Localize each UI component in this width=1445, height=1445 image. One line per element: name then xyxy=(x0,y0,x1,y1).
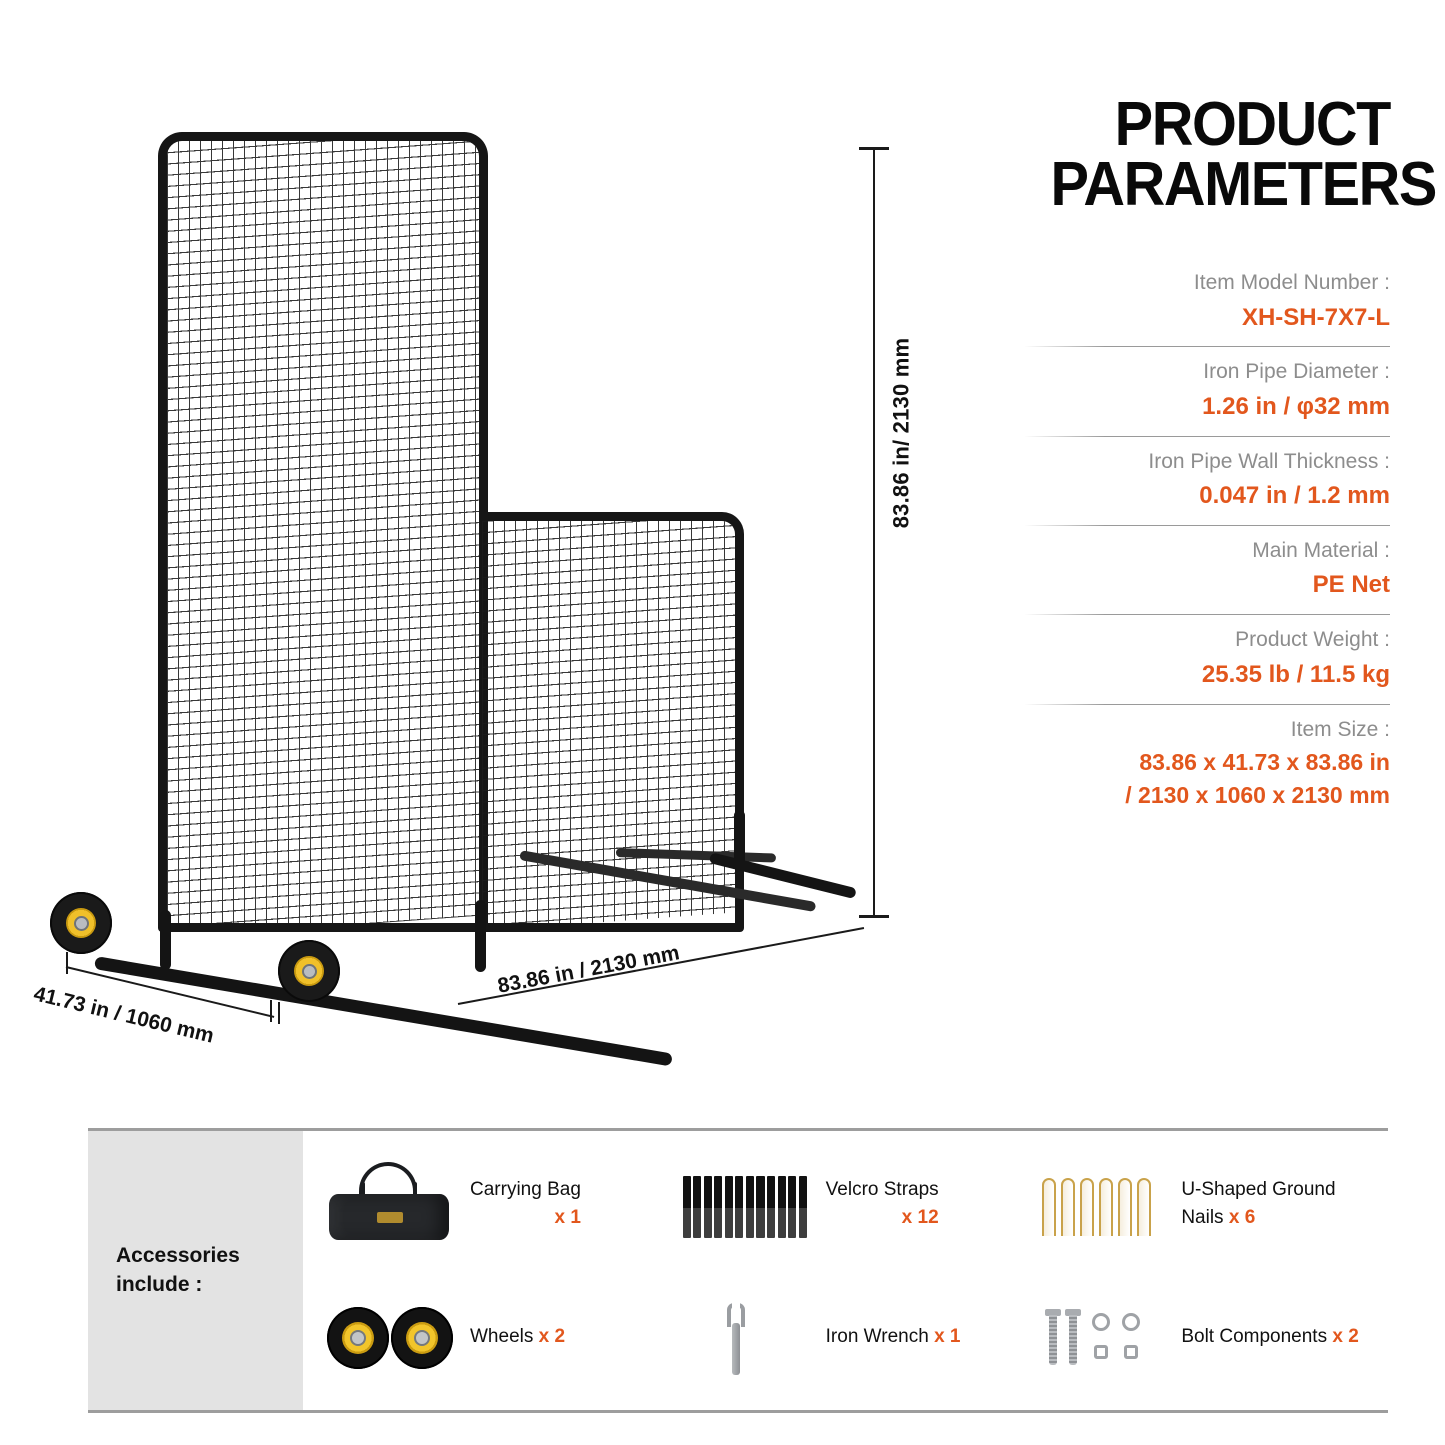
strap xyxy=(704,1176,712,1238)
accessory-wheels: Wheels x 2 xyxy=(321,1289,677,1385)
accessory-qty: x 1 xyxy=(934,1326,960,1347)
spec-key: Iron Pipe Wall Thickness : xyxy=(1025,446,1390,478)
bag-handle-icon xyxy=(359,1162,417,1198)
product-wheel-right xyxy=(278,940,340,1002)
iron-wrench-icon xyxy=(677,1289,812,1385)
bolt-icon-2 xyxy=(1068,1309,1078,1365)
bolt-icon-1 xyxy=(1048,1309,1058,1365)
nail-group xyxy=(1042,1178,1160,1238)
accessories-label-line-2: include : xyxy=(116,1271,240,1299)
accessory-label: Iron Wrench x 1 xyxy=(826,1323,961,1351)
page-title-line-1: PRODUCT xyxy=(1051,95,1390,155)
strap xyxy=(725,1176,733,1238)
accessory-qty: x 12 xyxy=(826,1204,939,1232)
strap xyxy=(735,1176,743,1238)
accessory-qty: x 1 xyxy=(470,1204,581,1232)
strap xyxy=(714,1176,722,1238)
strap xyxy=(746,1176,754,1238)
wheel-icon-right xyxy=(391,1307,453,1369)
spec-value-line-1: 83.86 x 41.73 x 83.86 in xyxy=(1025,747,1390,778)
bolt-group xyxy=(1046,1307,1156,1369)
spec-value: 1.26 in / φ32 mm xyxy=(1025,390,1390,425)
strap-bundle xyxy=(683,1176,807,1238)
spec-value: 25.35 lb / 11.5 kg xyxy=(1025,658,1390,693)
u-nail xyxy=(1042,1178,1056,1236)
height-dimension-line xyxy=(873,148,875,918)
accessory-name: Iron Wrench xyxy=(826,1326,929,1347)
wheels-icon xyxy=(321,1289,456,1385)
height-dimension-label: 83.86 in/ 2130 mm xyxy=(888,338,914,529)
spec-row-pipe-wall-thickness: Iron Pipe Wall Thickness : 0.047 in / 1.… xyxy=(1025,436,1390,525)
accessories-panel: Accessories include : Carrying Bag x 1 xyxy=(88,1128,1388,1413)
strap xyxy=(778,1176,786,1238)
nut-icon-2 xyxy=(1124,1345,1138,1359)
u-nail xyxy=(1080,1178,1094,1236)
net-mesh xyxy=(167,132,479,932)
strap xyxy=(683,1176,691,1238)
frame-post-right xyxy=(734,810,745,866)
spec-key: Iron Pipe Diameter : xyxy=(1025,356,1390,388)
depth-tick-right xyxy=(270,1000,272,1022)
specifications-list: Item Model Number : XH-SH-7X7-L Iron Pip… xyxy=(1025,258,1390,822)
spec-key: Main Material : xyxy=(1025,535,1390,567)
spec-value: 0.047 in / 1.2 mm xyxy=(1025,479,1390,514)
spec-key: Product Weight : xyxy=(1025,624,1390,656)
specifications-panel: PRODUCT PARAMETERS Item Model Number : X… xyxy=(1025,95,1390,822)
accessories-grid: Carrying Bag x 1 Velcr xyxy=(303,1131,1388,1410)
accessory-qty: x 2 xyxy=(1332,1326,1358,1347)
frame-post-left xyxy=(160,910,171,970)
spec-row-product-weight: Product Weight : 25.35 lb / 11.5 kg xyxy=(1025,614,1390,703)
wrench-shape xyxy=(727,1303,745,1373)
bolt-shaft xyxy=(1049,1315,1057,1365)
strap xyxy=(788,1176,796,1238)
accessory-name: Wheels xyxy=(470,1326,533,1347)
bolt-components-icon xyxy=(1032,1289,1167,1385)
u-nail xyxy=(1099,1178,1113,1236)
product-wheel-left xyxy=(50,892,112,954)
spec-value: PE Net xyxy=(1025,568,1390,603)
strap xyxy=(756,1176,764,1238)
wrench-notch xyxy=(732,1301,740,1313)
strap xyxy=(693,1176,701,1238)
accessory-name: Velcro Straps xyxy=(826,1176,939,1204)
accessory-label: Bolt Components x 2 xyxy=(1181,1323,1358,1351)
accessory-qty: x 2 xyxy=(539,1326,565,1347)
accessory-velcro-straps: Velcro Straps x 12 xyxy=(677,1156,1033,1252)
page-title-line-2: PARAMETERS xyxy=(1051,155,1390,215)
depth-tick-right-2 xyxy=(278,1002,280,1024)
accessory-carrying-bag: Carrying Bag x 1 xyxy=(321,1156,677,1252)
accessory-label: Velcro Straps x 12 xyxy=(826,1176,939,1231)
accessories-label-block: Accessories include : xyxy=(88,1131,303,1410)
spec-row-model-number: Item Model Number : XH-SH-7X7-L xyxy=(1025,258,1390,346)
frame-post-middle xyxy=(475,900,486,972)
height-cap-top xyxy=(859,147,889,150)
washer-icon-2 xyxy=(1122,1313,1140,1331)
velcro-straps-icon xyxy=(677,1156,812,1252)
accessory-bolt-components: Bolt Components x 2 xyxy=(1032,1289,1388,1385)
product-illustration xyxy=(20,110,920,1050)
u-shaped-ground-nails-icon xyxy=(1032,1156,1167,1252)
spec-row-item-size: Item Size : 83.86 x 41.73 x 83.86 in / 2… xyxy=(1025,704,1390,822)
carrying-bag-icon xyxy=(321,1156,456,1252)
depth-tick-left xyxy=(66,952,68,974)
spec-key: Item Size : xyxy=(1025,714,1390,746)
accessory-ground-nails: U-Shaped Ground Nails x 6 xyxy=(1032,1156,1388,1252)
top-section: 83.86 in/ 2130 mm 83.86 in / 2130 mm 41.… xyxy=(0,0,1445,1110)
nut-icon-1 xyxy=(1094,1345,1108,1359)
u-nail xyxy=(1061,1178,1075,1236)
accessory-label: Carrying Bag x 1 xyxy=(470,1176,581,1231)
product-parameters-page: 83.86 in/ 2130 mm 83.86 in / 2130 mm 41.… xyxy=(0,0,1445,1445)
strap xyxy=(767,1176,775,1238)
spec-row-main-material: Main Material : PE Net xyxy=(1025,525,1390,614)
bag-brand-tag xyxy=(377,1212,403,1223)
spec-value-line-2: / 2130 x 1060 x 2130 mm xyxy=(1025,780,1390,811)
u-nail xyxy=(1118,1178,1132,1236)
page-title: PRODUCT PARAMETERS xyxy=(1051,95,1390,214)
net-panel-main xyxy=(158,132,488,932)
accessory-name: Bolt Components xyxy=(1181,1326,1327,1347)
wheel-icon-left xyxy=(327,1307,389,1369)
u-nail xyxy=(1137,1178,1151,1236)
accessory-name: Carrying Bag xyxy=(470,1176,581,1204)
bolt-shaft xyxy=(1069,1315,1077,1365)
accessories-label-line-1: Accessories xyxy=(116,1242,240,1270)
accessory-name: U-Shaped Ground xyxy=(1181,1176,1335,1204)
spec-row-pipe-diameter: Iron Pipe Diameter : 1.26 in / φ32 mm xyxy=(1025,346,1390,435)
wrench-handle xyxy=(732,1323,740,1375)
accessory-label: Wheels x 2 xyxy=(470,1323,565,1351)
height-cap-bottom xyxy=(859,915,889,918)
accessory-iron-wrench: Iron Wrench x 1 xyxy=(677,1289,1033,1385)
accessory-label: U-Shaped Ground Nails x 6 xyxy=(1181,1176,1335,1231)
accessory-name-line-2: Nails x 6 xyxy=(1181,1204,1335,1232)
washer-icon-1 xyxy=(1092,1313,1110,1331)
spec-value: XH-SH-7X7-L xyxy=(1025,301,1390,336)
strap xyxy=(799,1176,807,1238)
accessory-qty: x 6 xyxy=(1229,1207,1255,1228)
accessories-label: Accessories include : xyxy=(116,1242,240,1299)
spec-key: Item Model Number : xyxy=(1025,267,1390,299)
